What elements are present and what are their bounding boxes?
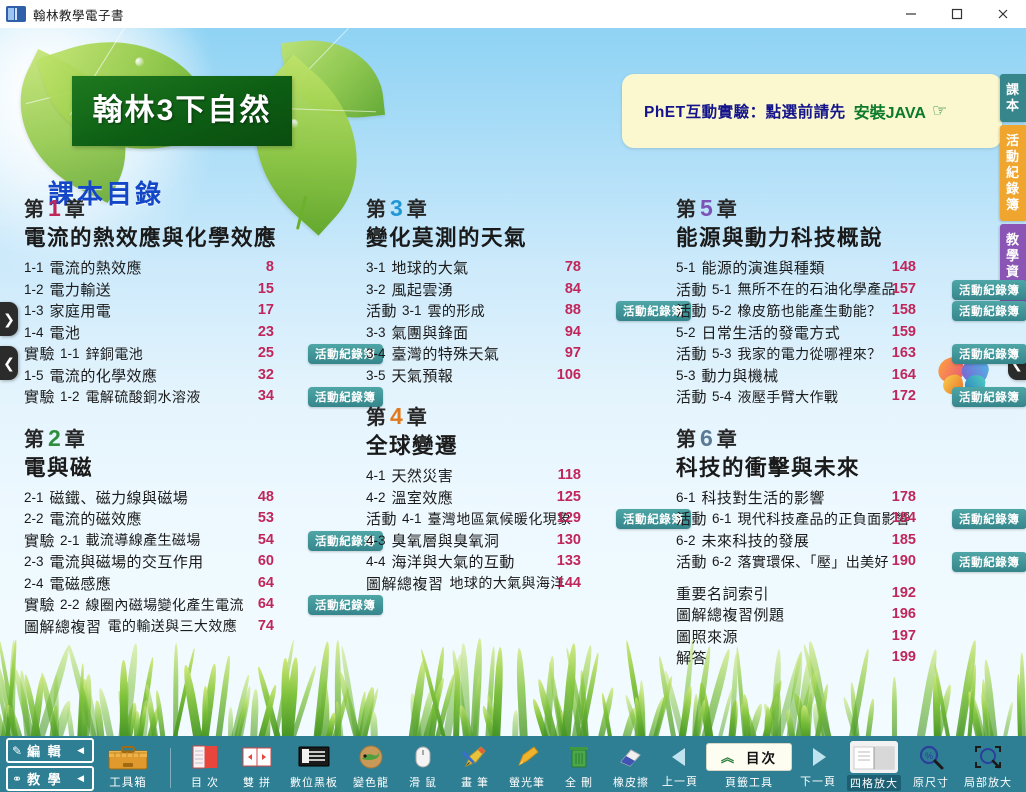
toc-entry-page: 118 xyxy=(553,467,581,483)
toc-entry-code: 5-4 xyxy=(712,389,732,404)
toc-entry-code: 5-1 xyxy=(712,282,732,297)
toc-entry-title: 家庭用電 xyxy=(50,300,112,321)
toc-entry-title: 電的輸送與三大效應 xyxy=(108,616,238,636)
app-icon xyxy=(6,5,26,23)
teach-mode-label: 教 學 xyxy=(27,769,63,788)
appendix-entry-page: 197 xyxy=(888,628,916,644)
toc-entry[interactable]: 活動3-1雲的形成88活動紀錄簿 xyxy=(366,300,676,322)
chapter-suffix: 章 xyxy=(407,407,428,429)
window-controls xyxy=(888,0,1026,28)
toc-entry-code: 4-2 xyxy=(366,490,386,505)
activity-log-badge[interactable]: 活動紀錄簿 xyxy=(952,509,1026,529)
chapter-title: 電流的熱效應與化學效應 xyxy=(24,223,376,253)
toc-entry-title: 線圈內磁場變化產生電流 xyxy=(86,595,244,615)
toc-entry-code: 1-4 xyxy=(24,325,44,340)
toc-entry-code: 1-1 xyxy=(24,260,44,275)
toc-entry[interactable]: 活動5-2橡皮筋也能產生動能？158活動紀錄簿 xyxy=(676,300,1006,322)
toc-entry-page: 158 xyxy=(888,302,916,318)
toc-entry-kind-label: 活動 xyxy=(366,300,397,321)
toolbar-item-highlighter-label: 螢光筆 xyxy=(509,774,545,790)
highlighter-icon xyxy=(513,742,541,772)
chapter-prefix: 第 xyxy=(24,429,45,451)
toc-entry-title: 科技對生活的影響 xyxy=(702,487,825,508)
appendix-entry-title: 圖照來源 xyxy=(676,629,738,646)
mouse-icon xyxy=(411,742,435,772)
toc-entry-page: 53 xyxy=(246,510,274,526)
toc-entry[interactable]: 活動5-3我家的電力從哪裡來？163活動紀錄簿 xyxy=(676,343,1006,365)
toc-entry-title: 我家的電力從哪裡來？ xyxy=(738,344,882,364)
toc-entry-title: 電流的磁效應 xyxy=(50,508,142,529)
toc-entry-page: 15 xyxy=(246,281,274,297)
toc-entry[interactable]: 1-3家庭用電17 xyxy=(24,300,376,322)
toc-entry-title: 溫室效應 xyxy=(392,487,454,508)
toolbar-item-blackboard[interactable]: 數位黑板 xyxy=(285,739,343,790)
toc-entry-page: 163 xyxy=(888,345,916,361)
toc-entry-text: 1-1電流的熱效應 xyxy=(24,257,376,278)
two-page-icon xyxy=(241,742,273,772)
pointing-hand-icon: ☞ xyxy=(932,101,947,121)
mode-buttons: ✎ 編 輯 ◀ ⚭ 教 學 ◀ xyxy=(6,738,94,791)
toc-tool-button[interactable]: ︽ 目次 頁籤工具 xyxy=(703,740,795,790)
toc-entry-title: 載流導線產生磁場 xyxy=(86,530,201,550)
toc-entry-title: 電解硫酸銅水溶液 xyxy=(86,387,201,407)
toolbar-item-eraser[interactable]: 橡皮擦 xyxy=(607,739,655,790)
toc-entry-code: 2-1 xyxy=(60,533,80,548)
toc-entry-kind-label: 實驗 xyxy=(24,343,55,364)
edit-mode-button[interactable]: ✎ 編 輯 ◀ xyxy=(6,738,94,763)
toc-entry-page: 64 xyxy=(246,575,274,591)
toc-entry[interactable]: 4-2溫室效應125 xyxy=(366,487,676,509)
toc-entry[interactable]: 2-4電磁感應64 xyxy=(24,573,376,595)
chapter-heading: 第6章 xyxy=(676,426,1006,453)
toolbar-item-chameleon-label: 變色龍 xyxy=(353,774,389,790)
toc-entry-code: 6-1 xyxy=(712,511,732,526)
toc-entry[interactable]: 2-2電流的磁效應53 xyxy=(24,508,376,530)
toolbar-item-partial-zoom[interactable]: 局部放大 xyxy=(959,739,1017,790)
toolbar-item-chameleon[interactable]: 變色龍 xyxy=(347,739,395,790)
prev-page-label: 上一頁 xyxy=(662,773,698,789)
chapter-title: 全球變遷 xyxy=(366,431,676,461)
toc-entry-title: 電力輸送 xyxy=(50,279,112,300)
toc-entry[interactable]: 活動5-1無所不在的石油化學產品157活動紀錄簿 xyxy=(676,279,1006,301)
toc-entry-title: 未來科技的發展 xyxy=(702,530,810,551)
toc-entry-kind-label: 活動 xyxy=(676,551,707,572)
toc-entry-page: 25 xyxy=(246,345,274,361)
eraser-icon xyxy=(617,742,645,772)
toc-entry-title: 橡皮筋也能產生動能？ xyxy=(738,301,882,321)
toc-entry[interactable]: 6-2未來科技的發展185 xyxy=(676,530,1006,552)
toc-entry-page: 8 xyxy=(246,259,274,275)
toc-entry[interactable]: 2-3電流與磁場的交互作用60 xyxy=(24,551,376,573)
toc-entry-code: 2-2 xyxy=(60,597,80,612)
toc-entry-title: 磁鐵、磁力線與磁場 xyxy=(50,487,189,508)
chapter-block: 第5章能源與動力科技概說5-1能源的演進與種類148活動5-1無所不在的石油化學… xyxy=(676,196,1006,408)
toc-entry-page: 17 xyxy=(246,302,274,318)
toc-entry-code: 5-3 xyxy=(712,346,732,361)
toc-entry-code: 3-1 xyxy=(366,260,386,275)
toc-entry-code: 3-1 xyxy=(402,303,422,318)
toolbar-item-partial-zoom-label: 局部放大 xyxy=(964,774,1012,790)
toolbar-item-actual-size[interactable]: % 原尺寸 xyxy=(907,739,955,790)
toc-entry-code: 2-3 xyxy=(24,554,44,569)
toc-entry[interactable]: 實驗2-2線圈內磁場變化產生電流64活動紀錄簿 xyxy=(24,594,376,616)
trash-icon xyxy=(567,742,591,772)
toc-entry-text: 圖解總複習地球的大氣與海洋 xyxy=(366,573,676,594)
toc-entry-kind-label: 活動 xyxy=(676,343,707,364)
toc-entry-page: 106 xyxy=(553,367,581,383)
appendix-entry-page: 196 xyxy=(888,606,916,622)
prev-page-arrow-icon xyxy=(667,743,693,771)
grass-blade xyxy=(228,707,233,736)
activity-log-badge[interactable]: 活動紀錄簿 xyxy=(308,595,383,615)
chapter-suffix: 章 xyxy=(717,429,738,451)
actual-size-icon: % xyxy=(917,742,945,772)
toolbar-item-four-grid-zoom-label: 四格放大 xyxy=(847,775,901,791)
toolbar-item-contents[interactable]: 目 次 xyxy=(181,739,229,790)
toc-entry[interactable]: 3-2風起雲湧84 xyxy=(366,279,676,301)
chapter-block: 第1章電流的熱效應與化學效應1-1電流的熱效應81-2電力輸送151-3家庭用電… xyxy=(24,196,376,408)
toc-entry-title: 日常生活的發電方式 xyxy=(702,322,841,343)
toc-entry-text: 6-1科技對生活的影響 xyxy=(676,487,1006,508)
toc-entry-text: 6-2未來科技的發展 xyxy=(676,530,1006,551)
toc-entry-title: 雲的形成 xyxy=(428,301,486,321)
toc-entry-kind-label: 圖解總複習 xyxy=(366,573,444,594)
toc-entry[interactable]: 3-4臺灣的特殊天氣97 xyxy=(366,343,676,365)
teach-mode-button[interactable]: ⚭ 教 學 ◀ xyxy=(6,766,94,791)
next-page-button[interactable]: 下一頁 xyxy=(795,740,841,789)
toc-entry-text: 1-4電池 xyxy=(24,322,376,343)
toc-entry-code: 1-2 xyxy=(60,389,80,404)
activity-log-badge[interactable]: 活動紀錄簿 xyxy=(952,344,1026,364)
toc-entry-title: 氣團與鋒面 xyxy=(392,322,469,343)
toc-entry-title: 地球的大氣 xyxy=(392,257,469,278)
toc-entry[interactable]: 1-2電力輸送15 xyxy=(24,279,376,301)
close-button[interactable] xyxy=(980,0,1026,28)
svg-text:%: % xyxy=(925,751,933,761)
toc-entry-code: 6-1 xyxy=(676,490,696,505)
toc-entry-page: 172 xyxy=(888,388,916,404)
chapter-number: 6 xyxy=(697,425,717,451)
toc-entry-code: 6-2 xyxy=(712,554,732,569)
toc-entry-page: 129 xyxy=(553,510,581,526)
toc-entry-page: 88 xyxy=(553,302,581,318)
toolbox-label: 工具箱 xyxy=(109,774,147,790)
toc-entry-title: 海洋與大氣的互動 xyxy=(392,551,515,572)
toc-entry[interactable]: 4-1天然災害118 xyxy=(366,465,676,487)
toolbar-item-whiteboard[interactable]: 白 板 xyxy=(1021,739,1026,790)
window-title: 翰林教學電子書 xyxy=(33,5,124,24)
toc-entry-text: 5-1能源的演進與種類 xyxy=(676,257,1006,278)
toc-entry-page: 54 xyxy=(246,532,274,548)
toolbar-item-pen-label: 畫 筆 xyxy=(461,774,489,790)
chapter-prefix: 第 xyxy=(366,199,387,221)
toc-entry-code: 2-1 xyxy=(24,490,44,505)
chapter-number: 5 xyxy=(697,195,717,221)
toc-entry[interactable]: 實驗1-2電解硫酸銅水溶液34活動紀錄簿 xyxy=(24,386,376,408)
minimize-button[interactable] xyxy=(888,0,934,28)
toc-entry[interactable]: 3-1地球的大氣78 xyxy=(366,257,676,279)
toc-entry-page: 144 xyxy=(553,575,581,591)
toc-entry-title: 電池 xyxy=(50,322,81,343)
toc-entry-page: 185 xyxy=(888,532,916,548)
activity-log-badge[interactable]: 活動紀錄簿 xyxy=(952,387,1026,407)
toc-entry-code: 1-5 xyxy=(24,368,44,383)
toc-entry-page: 125 xyxy=(553,489,581,505)
phet-notice[interactable]: PhET互動實驗：點選前請先 安裝JAVA ☞ xyxy=(622,74,1002,148)
toc-entry[interactable]: 活動6-1現代科技產品的正負面影響184活動紀錄簿 xyxy=(676,508,1006,530)
toolbar-divider xyxy=(170,748,171,788)
toc-entry-title: 能源的演進與種類 xyxy=(702,257,825,278)
toc-entry-title: 液壓手臂大作戰 xyxy=(738,387,839,407)
toc-entry-title: 臺灣的特殊天氣 xyxy=(392,343,500,364)
side-tab-textbook[interactable]: 課本 xyxy=(1000,74,1026,122)
toc-column: 第1章電流的熱效應與化學效應1-1電流的熱效應81-2電力輸送151-3家庭用電… xyxy=(24,196,376,637)
toc-entry-title: 鋅銅電池 xyxy=(86,344,144,364)
chapter-number: 2 xyxy=(45,425,65,451)
toc-entry-text: 3-4臺灣的特殊天氣 xyxy=(366,343,676,364)
toc-entry[interactable]: 5-1能源的演進與種類148 xyxy=(676,257,1006,279)
maximize-button[interactable] xyxy=(934,0,980,28)
toc-entry-page: 148 xyxy=(888,259,916,275)
chameleon-icon xyxy=(357,742,385,772)
pencil-icon: ✎ xyxy=(12,744,24,758)
four-grid-zoom-icon xyxy=(850,741,898,773)
appendix-entry-page: 192 xyxy=(888,585,916,601)
toc-entry-title: 臭氧層與臭氧洞 xyxy=(392,530,500,551)
toc-entry-kind-label: 圖解總複習 xyxy=(24,616,102,637)
appendix-entry[interactable]: 重要名詞索引192 xyxy=(676,583,1006,605)
toc-entry-code: 3-5 xyxy=(366,368,386,383)
chapter-prefix: 第 xyxy=(676,429,697,451)
toc-entry-code: 1-1 xyxy=(60,346,80,361)
toc-entry[interactable]: 1-1電流的熱效應8 xyxy=(24,257,376,279)
toc-entry-title: 天然災害 xyxy=(392,465,454,486)
phet-java-link[interactable]: 安裝JAVA xyxy=(854,99,926,123)
book-page: 翰林3下自然 課本目錄 PhET互動實驗：點選前請先 安裝JAVA ☞ ❯ ❮ … xyxy=(0,28,1026,736)
app-window: 翰林教學電子書 翰林3下自然 課本目錄 PhET互動實驗：點選 xyxy=(0,0,1026,792)
toolbar-item-four-grid-zoom[interactable]: 四格放大 xyxy=(845,738,903,791)
toc-entry[interactable]: 圖解總複習電的輸送與三大效應74 xyxy=(24,616,376,638)
toc-entry-page: 84 xyxy=(553,281,581,297)
toc-entry[interactable]: 2-1磁鐵、磁力線與磁場48 xyxy=(24,487,376,509)
toc-entry-code: 4-3 xyxy=(366,533,386,548)
toc-entry-code: 1-3 xyxy=(24,303,44,318)
toc-entry-page: 159 xyxy=(888,324,916,340)
toc-entry-page: 64 xyxy=(246,596,274,612)
pen-icon xyxy=(461,742,489,772)
toc-entry-kind-label: 實驗 xyxy=(24,386,55,407)
toc-entry-code: 2-4 xyxy=(24,576,44,591)
toc-entry-title: 落實環保、「壓」出美好 xyxy=(738,552,889,572)
toc-entry-text: 5-3動力與機械 xyxy=(676,365,1006,386)
chapter-heading: 第4章 xyxy=(366,404,676,431)
toc-entry-title: 電流的熱效應 xyxy=(50,257,142,278)
toolbox-icon xyxy=(103,743,153,773)
toc-entry-page: 184 xyxy=(888,510,916,526)
chevron-left-icon: ◀ xyxy=(77,745,86,756)
toc-entry[interactable]: 4-3臭氧層與臭氧洞130 xyxy=(366,530,676,552)
grass-blade xyxy=(66,706,75,736)
toc-entry-text: 4-4海洋與大氣的互動 xyxy=(366,551,676,572)
toc-tool-text: 目次 xyxy=(746,747,777,767)
toc-entry-title: 天氣預報 xyxy=(392,365,454,386)
toolbar-item-pen[interactable]: 畫 筆 xyxy=(451,739,499,790)
appendix-entry[interactable]: 解答199 xyxy=(676,647,1006,669)
chapter-title: 變化莫測的天氣 xyxy=(366,223,676,253)
chapter-heading: 第5章 xyxy=(676,196,1006,223)
book-title: 翰林3下自然 xyxy=(72,76,292,146)
toc-entry-text: 3-5天氣預報 xyxy=(366,365,676,386)
toc-entry[interactable]: 實驗1-1鋅銅電池25活動紀錄簿 xyxy=(24,343,376,365)
chapter-title: 能源與動力科技概說 xyxy=(676,223,1006,253)
toc-entry-title: 無所不在的石油化學產品 xyxy=(738,279,896,299)
toc-tool-label: 頁籤工具 xyxy=(725,774,773,790)
contents-icon xyxy=(190,742,220,772)
toolbox-button[interactable]: 工具箱 xyxy=(98,740,158,790)
chapter-prefix: 第 xyxy=(366,407,387,429)
activity-log-badge[interactable]: 活動紀錄簿 xyxy=(952,301,1026,321)
toc-entry-kind-label: 活動 xyxy=(676,508,707,529)
toolbar-item-two-page[interactable]: 雙 拼 xyxy=(233,739,281,790)
toc-entry-page: 34 xyxy=(246,388,274,404)
toc-entry-code: 4-1 xyxy=(402,511,422,526)
toc-entry-text: 2-1磁鐵、磁力線與磁場 xyxy=(24,487,376,508)
toc-entry-text: 1-2電力輸送 xyxy=(24,279,376,300)
toc-entry[interactable]: 圖解總複習地球的大氣與海洋144 xyxy=(366,573,676,595)
toc-entry[interactable]: 5-3動力與機械164 xyxy=(676,365,1006,387)
edit-mode-label: 編 輯 xyxy=(27,741,63,760)
toc-entry[interactable]: 1-4電池23 xyxy=(24,322,376,344)
toc-entry[interactable]: 活動6-2落實環保、「壓」出美好190活動紀錄簿 xyxy=(676,551,1006,573)
toc-entry-text: 2-3電流與磁場的交互作用 xyxy=(24,551,376,572)
toc-entry-code: 3-4 xyxy=(366,346,386,361)
toc-column: 第5章能源與動力科技概說5-1能源的演進與種類148活動5-1無所不在的石油化學… xyxy=(676,196,1006,669)
appendix-entry-page: 199 xyxy=(888,649,916,665)
toc-entry-title: 地球的大氣與海洋 xyxy=(450,573,565,593)
chapter-suffix: 章 xyxy=(65,429,86,451)
toolbar-item-contents-label: 目 次 xyxy=(191,774,219,790)
appendix-entry-title: 重要名詞索引 xyxy=(676,586,769,603)
toc-entry-code: 3-3 xyxy=(366,325,386,340)
chapter-block: 第2章電與磁2-1磁鐵、磁力線與磁場482-2電流的磁效應53實驗2-1載流導線… xyxy=(24,426,376,638)
toc-entry-text: 4-3臭氧層與臭氧洞 xyxy=(366,530,676,551)
toc-entry-text: 圖解總複習電的輸送與三大效應 xyxy=(24,616,376,637)
toolbar-item-mouse-label: 滑 鼠 xyxy=(409,774,437,790)
toc-entry-page: 133 xyxy=(553,553,581,569)
appendix-entry-title: 圖解總複習例題 xyxy=(676,607,785,624)
chapter-heading: 第3章 xyxy=(366,196,676,223)
next-page-arrow-icon xyxy=(805,743,831,771)
prev-page-button[interactable]: 上一頁 xyxy=(657,740,703,789)
toc-entry-kind-label: 實驗 xyxy=(24,530,55,551)
toc-entry-text: 2-4電磁感應 xyxy=(24,573,376,594)
toc-entry-code: 4-4 xyxy=(366,554,386,569)
next-page-label: 下一頁 xyxy=(800,773,836,789)
toc-entry-code: 4-1 xyxy=(366,468,386,483)
chevron-up-icon: ︽ xyxy=(721,747,734,766)
chapter-heading: 第1章 xyxy=(24,196,376,223)
toc-entry-title: 電磁感應 xyxy=(50,573,112,594)
toc-entry-page: 164 xyxy=(888,367,916,383)
appendix-entry[interactable]: 圖照來源197 xyxy=(676,626,1006,648)
toc-entry[interactable]: 活動4-1臺灣地區氣候暖化現象129活動紀錄簿 xyxy=(366,508,676,530)
toc-column: 第3章變化莫測的天氣3-1地球的大氣783-2風起雲湧84活動3-1雲的形成88… xyxy=(366,196,676,594)
appendix-entry-title: 解答 xyxy=(676,650,707,667)
chapter-heading: 第2章 xyxy=(24,426,376,453)
toc-entry-code: 2-2 xyxy=(24,511,44,526)
activity-log-badge[interactable]: 活動紀錄簿 xyxy=(952,280,1026,300)
toc-entry[interactable]: 3-5天氣預報106 xyxy=(366,365,676,387)
toolbar-item-blackboard-label: 數位黑板 xyxy=(290,774,338,790)
toc-entry-title: 電流與磁場的交互作用 xyxy=(50,551,204,572)
toc-entry[interactable]: 1-5電流的化學效應32 xyxy=(24,365,376,387)
toc-entry-code: 6-2 xyxy=(676,533,696,548)
toc-tool-box[interactable]: ︽ 目次 xyxy=(706,743,792,771)
toc-entry-kind-label: 活動 xyxy=(676,279,707,300)
toc-entry-title: 風起雲湧 xyxy=(392,279,454,300)
toc-entry-kind-label: 實驗 xyxy=(24,594,55,615)
activity-log-badge[interactable]: 活動紀錄簿 xyxy=(952,552,1026,572)
toc-entry-page: 190 xyxy=(888,553,916,569)
toc-entry-page: 78 xyxy=(553,259,581,275)
toc-entry-text: 3-1地球的大氣 xyxy=(366,257,676,278)
chapter-suffix: 章 xyxy=(717,199,738,221)
toc-entry[interactable]: 5-2日常生活的發電方式159 xyxy=(676,322,1006,344)
side-tab-textbook-label: 課本 xyxy=(1000,82,1026,114)
toolbar-item-highlighter[interactable]: 螢光筆 xyxy=(503,739,551,790)
chapter-number: 3 xyxy=(387,195,407,221)
toc-entry-page: 23 xyxy=(246,324,274,340)
toolbar-item-two-page-label: 雙 拼 xyxy=(243,774,271,790)
chapter-number: 1 xyxy=(45,195,65,221)
toc-entry-code: 1-2 xyxy=(24,282,44,297)
toc-entry-text: 5-2日常生活的發電方式 xyxy=(676,322,1006,343)
toc-entry-page: 60 xyxy=(246,553,274,569)
blackboard-icon xyxy=(297,742,331,772)
title-bar: 翰林教學電子書 xyxy=(0,0,1026,29)
toc-entry-text: 3-3氣團與鋒面 xyxy=(366,322,676,343)
chapter-block: 第3章變化莫測的天氣3-1地球的大氣783-2風起雲湧84活動3-1雲的形成88… xyxy=(366,196,676,386)
chapter-suffix: 章 xyxy=(407,199,428,221)
toc-entry-text: 2-2電流的磁效應 xyxy=(24,508,376,529)
toc-entry[interactable]: 活動5-4液壓手臂大作戰172活動紀錄簿 xyxy=(676,386,1006,408)
toc-entry-text: 1-5電流的化學效應 xyxy=(24,365,376,386)
toc-entry[interactable]: 實驗2-1載流導線產生磁場54活動紀錄簿 xyxy=(24,530,376,552)
chevron-left-icon: ◀ xyxy=(77,773,86,784)
toc-entry-page: 130 xyxy=(553,532,581,548)
toc-entry[interactable]: 4-4海洋與大氣的互動133 xyxy=(366,551,676,573)
toc-entry-page: 94 xyxy=(553,324,581,340)
toc-entry[interactable]: 6-1科技對生活的影響178 xyxy=(676,487,1006,509)
chapter-block: 第6章科技的衝擊與未來6-1科技對生活的影響178活動6-1現代科技產品的正負面… xyxy=(676,426,1006,669)
toolbar-left-group: ✎ 編 輯 ◀ ⚭ 教 學 ◀ xyxy=(0,736,1026,791)
toolbar-item-clear-all[interactable]: 全 刪 xyxy=(555,739,603,790)
phet-notice-text: PhET互動實驗：點選前請先 xyxy=(644,100,846,122)
grass-blade xyxy=(1002,701,1015,736)
toolbar-item-actual-size-label: 原尺寸 xyxy=(913,774,949,790)
chapter-prefix: 第 xyxy=(676,199,697,221)
appendix-spacer xyxy=(676,573,1006,583)
toolbar-item-mouse[interactable]: 滑 鼠 xyxy=(399,739,447,790)
toolbar-item-eraser-label: 橡皮擦 xyxy=(613,774,649,790)
toc-entry-title: 臺灣地區氣候暖化現象 xyxy=(428,509,572,529)
toc-entry-page: 157 xyxy=(888,281,916,297)
toc-entry[interactable]: 3-3氣團與鋒面94 xyxy=(366,322,676,344)
toc-entry-text: 4-2溫室效應 xyxy=(366,487,676,508)
partial-zoom-icon xyxy=(973,742,1003,772)
appendix-entry[interactable]: 圖解總複習例題196 xyxy=(676,604,1006,626)
toc-entry-page: 74 xyxy=(246,618,274,634)
